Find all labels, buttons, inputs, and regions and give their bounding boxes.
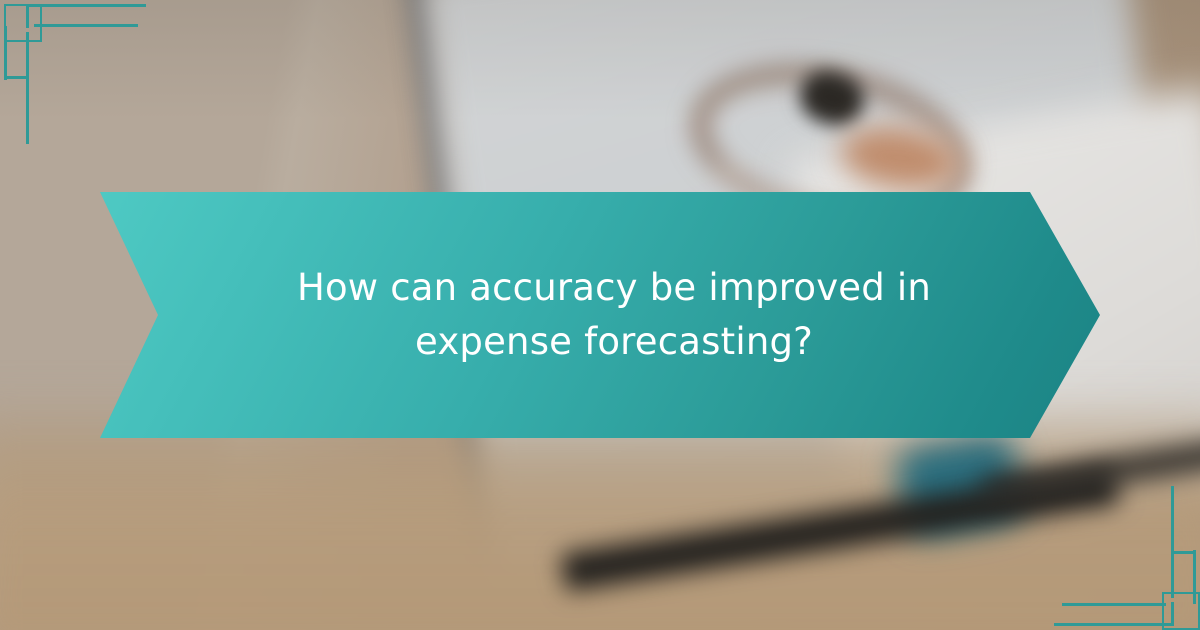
headline-ribbon-banner: How can accuracy be improved in expense …	[100, 192, 1100, 438]
screenshot-canvas: How can accuracy be improved in expense …	[0, 0, 1200, 630]
background-top-shadow	[0, 0, 1200, 120]
headline-text: How can accuracy be improved in expense …	[234, 261, 994, 370]
background-desk-surface	[0, 420, 1200, 630]
